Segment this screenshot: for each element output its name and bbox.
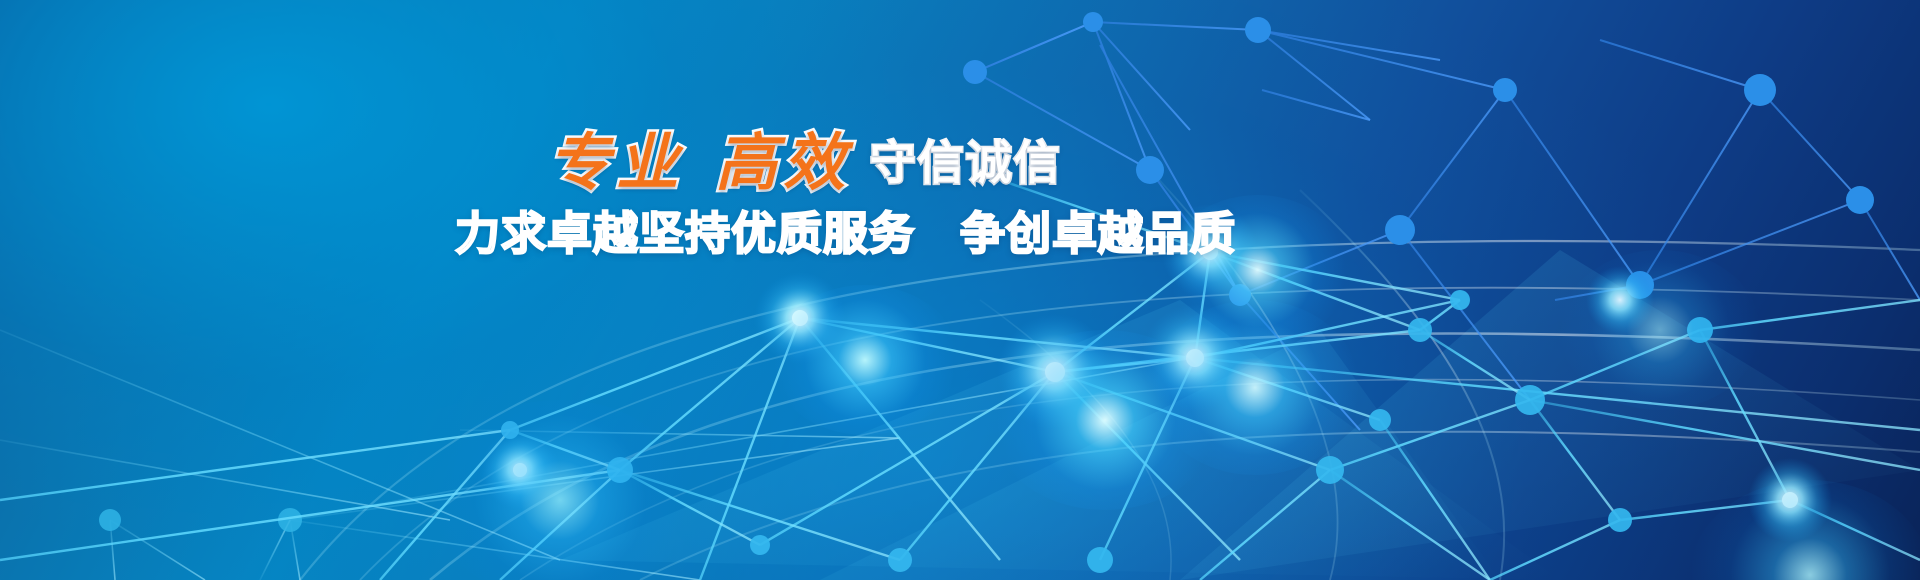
network-background-near bbox=[0, 0, 1920, 580]
headline-highlight-a: 专业 bbox=[548, 126, 684, 199]
headline-line-2: 力求卓越坚持优质服务 争创卓越品质 bbox=[455, 210, 1155, 257]
hero-banner: 专业 高效 守信诚信 力求卓越坚持优质服务 争创卓越品质 bbox=[0, 0, 1920, 580]
headline-highlight-b: 高效 bbox=[715, 126, 851, 199]
headline-line-1: 专业 高效 守信诚信 bbox=[455, 132, 1155, 194]
headline-line-2-part-a: 力求卓越坚持优质服务 bbox=[455, 208, 915, 259]
headline-subtext: 守信诚信 bbox=[870, 137, 1062, 189]
banner-headline: 专业 高效 守信诚信 力求卓越坚持优质服务 争创卓越品质 bbox=[455, 132, 1155, 257]
headline-line-2-part-b: 争创卓越品质 bbox=[960, 208, 1236, 259]
